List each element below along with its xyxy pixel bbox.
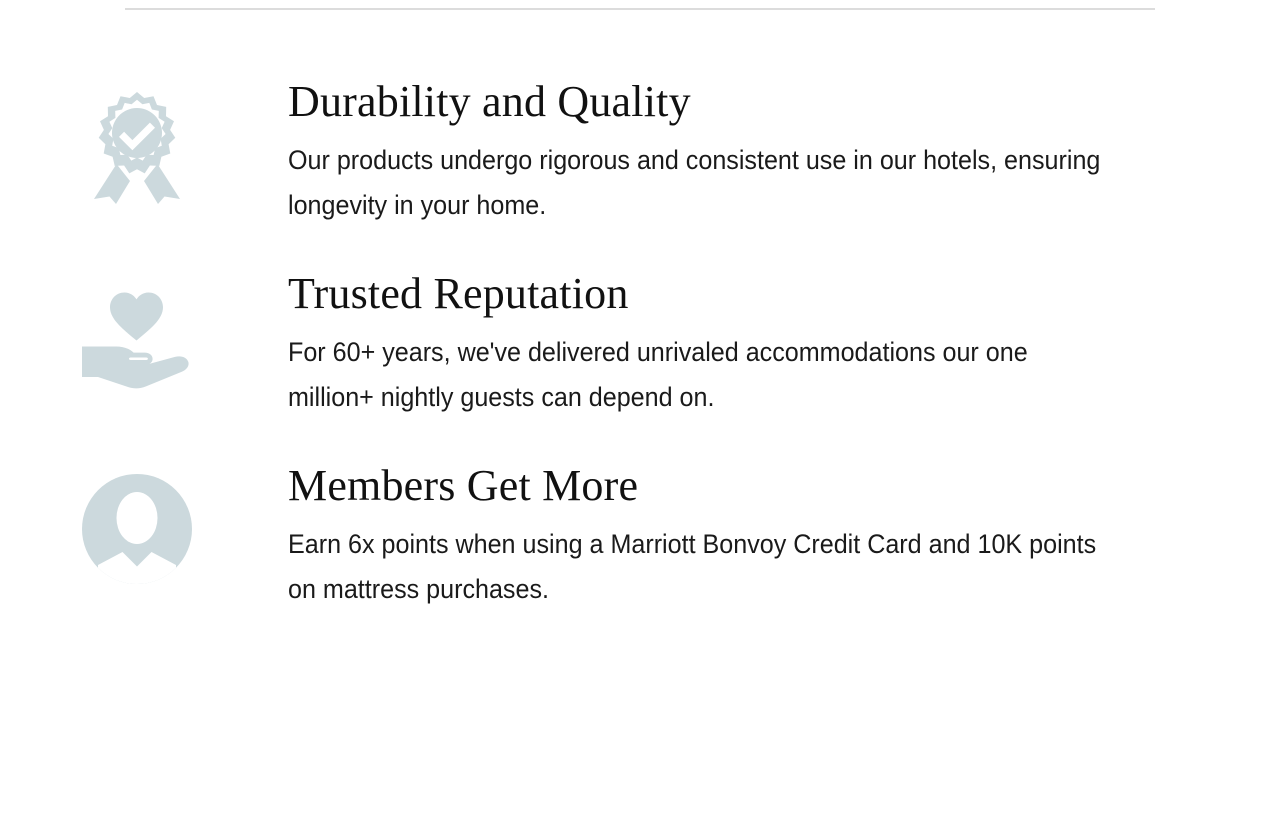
feature-text-block: Trusted Reputation For 60+ years, we've …	[196, 266, 1280, 420]
award-badge-check-icon	[78, 86, 196, 204]
feature-list-page: Durability and Quality Our products unde…	[0, 0, 1280, 818]
feature-title: Trusted Reputation	[288, 266, 1190, 322]
person-avatar-icon	[78, 470, 196, 588]
top-divider	[125, 8, 1155, 10]
feature-description: Earn 6x points when using a Marriott Bon…	[288, 522, 1120, 612]
hand-holding-heart-icon	[78, 278, 196, 396]
feature-item-trusted-reputation: Trusted Reputation For 60+ years, we've …	[0, 270, 1280, 420]
feature-item-durability-and-quality: Durability and Quality Our products unde…	[0, 78, 1280, 228]
feature-description: For 60+ years, we've delivered unrivaled…	[288, 330, 1120, 420]
feature-description: Our products undergo rigorous and consis…	[288, 138, 1120, 228]
feature-text-block: Durability and Quality Our products unde…	[196, 74, 1280, 228]
feature-text-block: Members Get More Earn 6x points when usi…	[196, 458, 1280, 612]
feature-list: Durability and Quality Our products unde…	[0, 78, 1280, 612]
feature-title: Durability and Quality	[288, 74, 1190, 130]
feature-item-members-get-more: Members Get More Earn 6x points when usi…	[0, 462, 1280, 612]
feature-title: Members Get More	[288, 458, 1190, 514]
